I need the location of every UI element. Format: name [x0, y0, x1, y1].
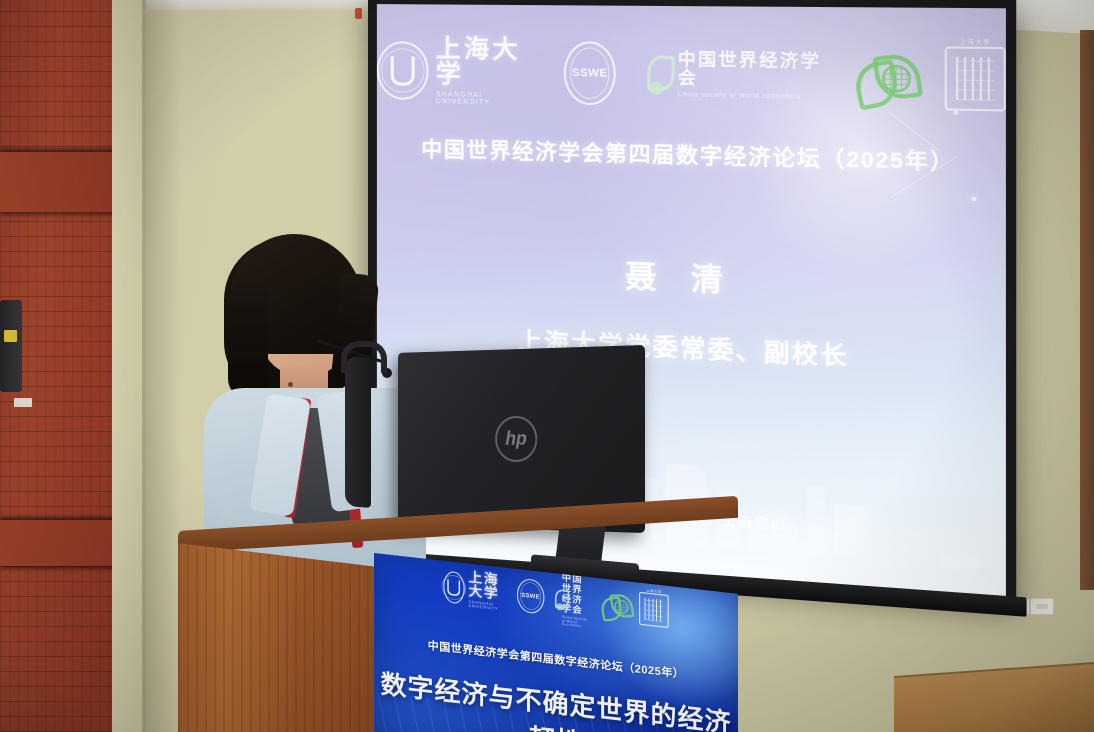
pb-shu-name-en: SHANGHAI UNIVERSITY — [468, 600, 508, 612]
pb-cswe-name-en: China Society of World Economics — [562, 616, 592, 630]
monitor-arm-hook — [341, 341, 387, 373]
square-seal-icon: 上海大学 — [639, 592, 669, 628]
pb-sswe-abbr: SSWE — [521, 592, 540, 601]
network-dot-icon — [972, 197, 977, 201]
shanghai-university-emblem-icon — [377, 41, 429, 100]
yellow-label-icon — [4, 330, 17, 342]
podium-side-panel — [178, 543, 378, 732]
wood-panel-band-lower — [0, 520, 118, 566]
slide-logo-strip: 上海大学 SHANGHAI UNIVERSITY SSWE — [377, 20, 1006, 133]
slide-speaker-name: 聂 清 — [377, 242, 1006, 311]
logo-sswe-seal: SSWE — [564, 41, 616, 105]
right-wall-wood-trim — [1080, 30, 1094, 590]
pb-logo-shanghai-university: 上海大学 SHANGHAI UNIVERSITY — [443, 568, 508, 613]
shu-name-cn: 上海大学 — [436, 37, 537, 89]
monitor-arm — [345, 356, 371, 508]
square-seal-caption: 上海大学 — [959, 37, 991, 47]
wall-plate — [14, 398, 32, 407]
logo-square-seal: 上海大学 — [945, 46, 1006, 111]
cswe-emblem-icon — [643, 51, 671, 97]
sswe-seal-icon: SSWE — [517, 578, 545, 615]
slide-corner-mark — [940, 553, 978, 571]
shu-name-en: SHANGHAI UNIVERSITY — [436, 91, 537, 107]
hp-logo-icon: hp — [495, 416, 537, 462]
podium-banner: 上海大学 SHANGHAI UNIVERSITY SSWE 中国世界经济学会 C… — [374, 553, 738, 732]
podium: 上海大学 SHANGHAI UNIVERSITY SSWE 中国世界经济学会 C… — [178, 531, 738, 732]
pb-shu-name-cn: 上海大学 — [468, 570, 508, 602]
pb-logo-sswe-seal: SSWE — [517, 578, 545, 615]
pb-square-seal-caption: 上海大学 — [646, 588, 661, 595]
pb-logo-square-seal: 上海大学 — [639, 592, 669, 628]
cswe-emblem-icon — [553, 586, 559, 611]
hair-side-left — [228, 282, 268, 400]
wall-mounted-device — [0, 300, 22, 392]
slide-forum-title: 中国世界经济学会第四届数字经济论坛（2025年） — [377, 132, 1006, 178]
wall-shadow — [142, 0, 182, 732]
shanghai-university-emblem-icon — [443, 570, 465, 604]
pb-logo-green-leaf — [600, 589, 631, 623]
facial-mark — [288, 382, 293, 387]
power-socket-right — [1030, 598, 1054, 615]
green-leaf-icon — [600, 589, 631, 623]
sswe-abbr: SSWE — [572, 67, 608, 80]
square-seal-icon: 上海大学 — [945, 46, 1006, 111]
wood-panel-band-upper — [0, 152, 118, 212]
sswe-seal-icon: SSWE — [564, 41, 616, 105]
cswe-name-en: China Society of World Economics — [678, 92, 825, 101]
conference-photo-scene: 上海大学 SHANGHAI UNIVERSITY SSWE — [0, 0, 1094, 732]
logo-china-society-world-economics: 中国世界经济学会 China Society of World Economic… — [643, 50, 824, 102]
red-marker-dot — [355, 8, 362, 19]
wall-column — [112, 0, 146, 732]
pb-logo-cswe: 中国世界经济学会 China Society of World Economic… — [553, 572, 592, 630]
logo-green-leaf-emblem — [853, 47, 915, 107]
green-leaf-icon — [853, 47, 915, 107]
cswe-name-cn: 中国世界经济学会 — [678, 50, 825, 91]
logo-shanghai-university: 上海大学 SHANGHAI UNIVERSITY — [377, 36, 537, 107]
